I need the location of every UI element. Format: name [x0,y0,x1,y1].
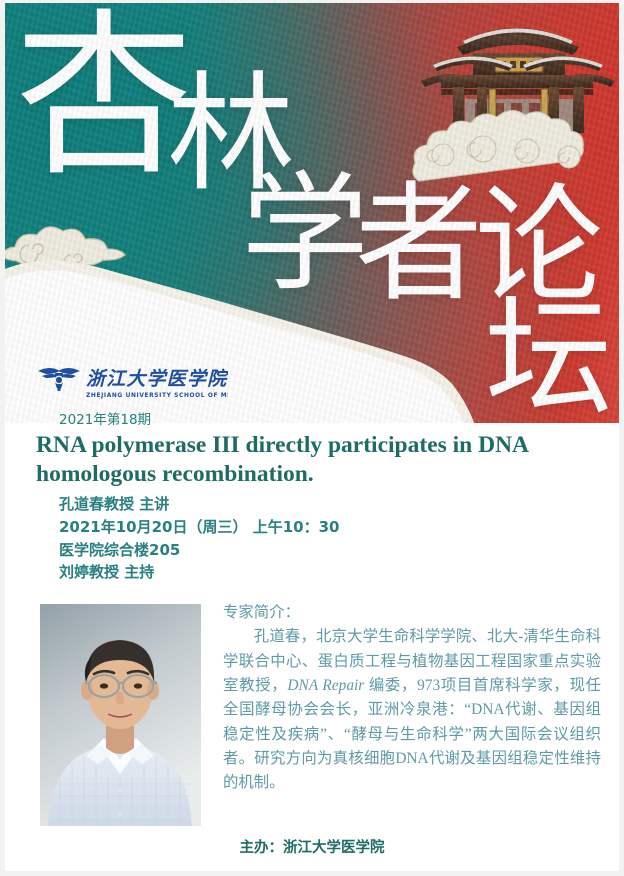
content-area: 浙江大学医学院 ZHEJIANG UNIVERSITY SCHOOL OF ME… [5,355,619,871]
talk-details: 孔道春教授 主讲 2021年10月20日（周三） 上午10：30 医学院综合楼2… [59,493,339,584]
cloud-motif-gate [409,99,619,185]
poster-page: 杏 林 学 者 论 坛 [5,3,619,871]
cloud-motif-left [5,215,149,287]
bio-journal-name: DNA Repair [287,677,364,694]
zju-medical-school-logo: 浙江大学医学院 ZHEJIANG UNIVERSITY SCHOOL OF ME… [36,363,228,403]
issue-number: 2021年第18期 [59,408,151,428]
speaker-portrait [40,604,201,826]
poster-root: 杏 林 学 者 论 坛 [0,0,624,876]
detail-speaker: 孔道春教授 主讲 [59,493,339,516]
caduceus-wings-emblem [38,368,80,391]
headline-char-zhe: 者 [355,181,483,309]
talk-title: RNA polymerase III directly participates… [36,431,596,488]
organiser-footer: 主办：浙江大学医学院 [5,836,619,857]
logo-chinese-text: 浙江大学医学院 [86,368,228,390]
detail-host: 刘婷教授 主持 [59,561,339,584]
detail-venue: 医学院综合楼205 [59,539,339,562]
speaker-bio: 专家简介： 孔道春，北京大学生命科学学院、北大-清华生命科学联合中心、蛋白质工程… [223,601,601,796]
bio-heading: 专家简介： [223,601,601,625]
detail-datetime: 2021年10月20日（周三） 上午10：30 [59,516,339,539]
portrait-image [40,604,201,826]
headline-char-xue: 学 [241,171,369,299]
bio-body: 孔道春，北京大学生命科学学院、北大-清华生命科学联合中心、蛋白质工程与植物基因工… [223,625,601,795]
logo-english-text: ZHEJIANG UNIVERSITY SCHOOL OF MEDICINE [86,393,228,399]
bio-text-part2: 编委，973项目首席科学家，现任全国酵母协会会长，亚洲冷泉港：“DNA代谢、基因… [223,677,601,791]
